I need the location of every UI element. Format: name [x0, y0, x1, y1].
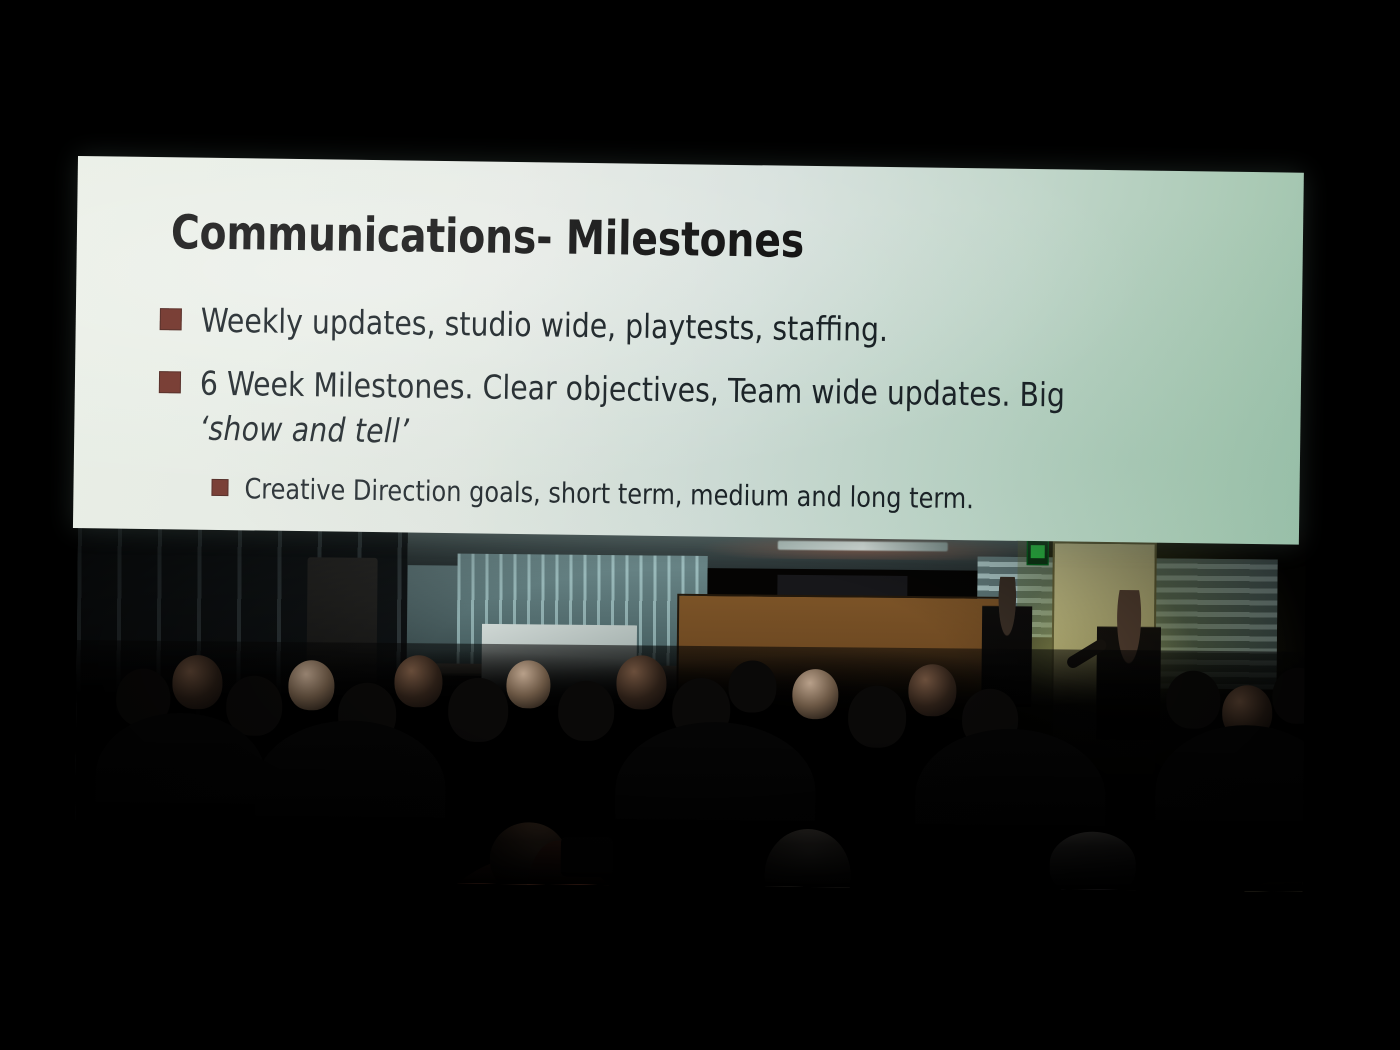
audience-shoulders	[255, 720, 446, 818]
audience-head	[908, 664, 956, 716]
audience-photo	[75, 520, 1306, 892]
bullet-item-1: Weekly updates, studio wide, playtests, …	[159, 297, 1270, 359]
exit-sign-icon	[1027, 539, 1049, 565]
audience-head	[848, 685, 907, 748]
handheld-camera	[561, 837, 613, 877]
screenshot-stage: Communications- Milestones Weekly update…	[0, 0, 1400, 1050]
audience-khaki-jacket	[1213, 881, 1306, 892]
audience-head	[288, 660, 334, 710]
audience-head	[558, 681, 615, 742]
slide-title: Communications- Milestones	[171, 205, 805, 269]
audience-head	[394, 655, 442, 707]
audience-photo-content	[75, 520, 1306, 892]
audience-head	[1272, 667, 1306, 723]
audience-head	[506, 660, 550, 708]
audience-crowd-mass	[75, 640, 1305, 892]
bullet-item-2: 6 Week Milestones. Clear objectives, Tea…	[158, 360, 1269, 467]
audience-shoulders	[615, 721, 816, 821]
audience-shoulders	[1155, 724, 1306, 822]
audience-baseball-cap	[1049, 831, 1136, 891]
ceiling-light-fixture	[778, 541, 948, 552]
audience-head	[172, 655, 223, 709]
slide-bullet-list: Weekly updates, studio wide, playtests, …	[157, 297, 1270, 538]
bullet-item-3: Creative Direction goals, short term, me…	[211, 468, 1267, 522]
audience-head	[616, 655, 667, 709]
audience-red-shirt	[914, 888, 1025, 892]
bullet-text-1: Weekly updates, studio wide, playtests, …	[200, 298, 888, 354]
bullet-square-icon	[159, 371, 181, 393]
audience-head	[1166, 670, 1221, 729]
presentation-slide: Communications- Milestones Weekly update…	[73, 156, 1304, 545]
audience-head	[448, 678, 509, 743]
bullet-text-2-italic: ‘show and tell’	[199, 405, 1065, 464]
audience-head	[792, 669, 838, 719]
audience-shoulders	[915, 728, 1106, 826]
bullet-text-3: Creative Direction goals, short term, me…	[244, 469, 974, 519]
bullet-square-icon	[160, 308, 182, 330]
bullet-text-2: 6 Week Milestones. Clear objectives, Tea…	[199, 361, 1065, 464]
audience-head	[728, 660, 776, 712]
bullet-square-icon	[211, 478, 228, 495]
audience-grey-hair-head	[764, 829, 851, 892]
